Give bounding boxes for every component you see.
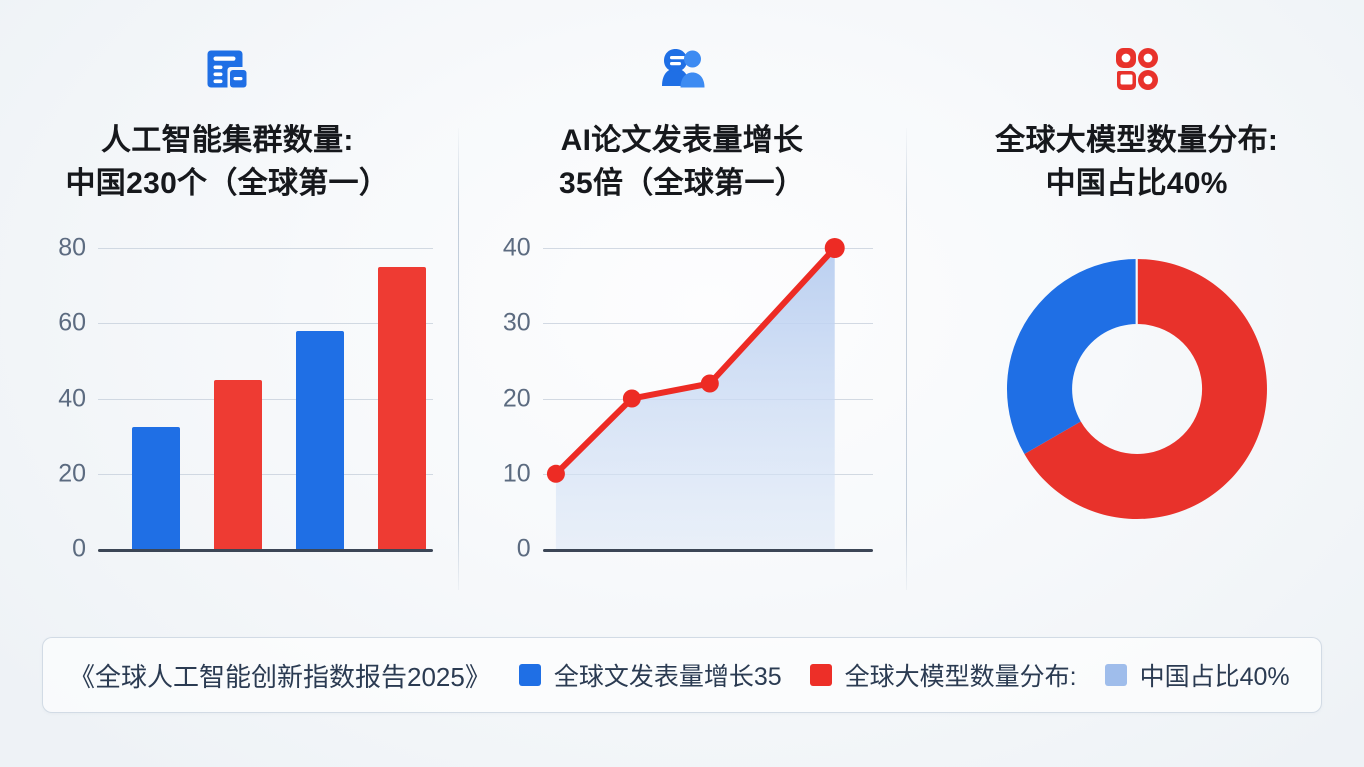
- legend-swatch-light-blue: [1105, 664, 1127, 686]
- legend-label: 全球大模型数量分布:: [845, 657, 1077, 693]
- legend-bar: 《全球人工智能创新指数报告2025》 全球文发表量增长35 全球大模型数量分布:…: [42, 637, 1322, 713]
- donut-slice-china: [1007, 259, 1137, 454]
- panel-ai-clusters: 人工智能集群数量: 中国230个（全球第一） 80 60 40 20 0: [0, 0, 455, 614]
- data-point: [547, 465, 565, 483]
- area-chart: 40 30 20 10 0: [455, 219, 910, 559]
- panel-divider-1: [458, 128, 459, 590]
- legend-item-1[interactable]: 全球大模型数量分布:: [810, 657, 1077, 693]
- four-blocks-icon: [1108, 40, 1166, 98]
- bar-chart: 80 60 40 20 0: [0, 219, 455, 559]
- legend-label: 中国占比40%: [1140, 657, 1290, 693]
- y-tick-label: 80: [10, 234, 86, 263]
- legend-source: 《全球人工智能创新指数报告2025》: [69, 657, 491, 694]
- y-tick-label: 40: [10, 385, 86, 414]
- axis-baseline: [98, 549, 433, 552]
- slide-root: 人工智能集群数量: 中国230个（全球第一） 80 60 40 20 0: [0, 0, 1364, 767]
- panel-title: 全球大模型数量分布: 中国占比40%: [995, 120, 1278, 205]
- legend-label: 全球文发表量增长35: [554, 657, 782, 693]
- legend-swatch-red: [810, 664, 832, 686]
- panel-ai-papers: AI论文发表量增长 35倍（全球第一） 40 30 20 10 0: [455, 0, 910, 614]
- bar-2[interactable]: [214, 380, 262, 549]
- bar-4[interactable]: [378, 267, 426, 549]
- data-point: [824, 238, 844, 258]
- legend-item-2[interactable]: 中国占比40%: [1105, 657, 1290, 693]
- panel-title: 人工智能集群数量: 中国230个（全球第一）: [66, 120, 390, 205]
- area-markers[interactable]: [455, 219, 910, 559]
- panels-row: 人工智能集群数量: 中国230个（全球第一） 80 60 40 20 0: [0, 0, 1364, 614]
- panel-model-distribution: 全球大模型数量分布: 中国占比40%: [909, 0, 1364, 614]
- document-list-icon: [198, 40, 256, 98]
- legend-item-0[interactable]: 全球文发表量增长35: [519, 657, 782, 693]
- panel-divider-2: [906, 128, 907, 590]
- bar-3[interactable]: [296, 331, 344, 549]
- y-tick-label: 60: [10, 309, 86, 338]
- donut-svg[interactable]: [982, 234, 1292, 544]
- panel-title: AI论文发表量增长 35倍（全球第一）: [559, 120, 805, 205]
- bar-1[interactable]: [132, 427, 180, 549]
- person-speech-icon: [653, 40, 711, 98]
- y-tick-label: 0: [10, 535, 86, 564]
- data-point: [623, 390, 641, 408]
- y-tick-label: 20: [10, 460, 86, 489]
- legend-swatch-blue: [519, 664, 541, 686]
- data-point: [700, 375, 718, 393]
- donut-chart: [909, 219, 1364, 559]
